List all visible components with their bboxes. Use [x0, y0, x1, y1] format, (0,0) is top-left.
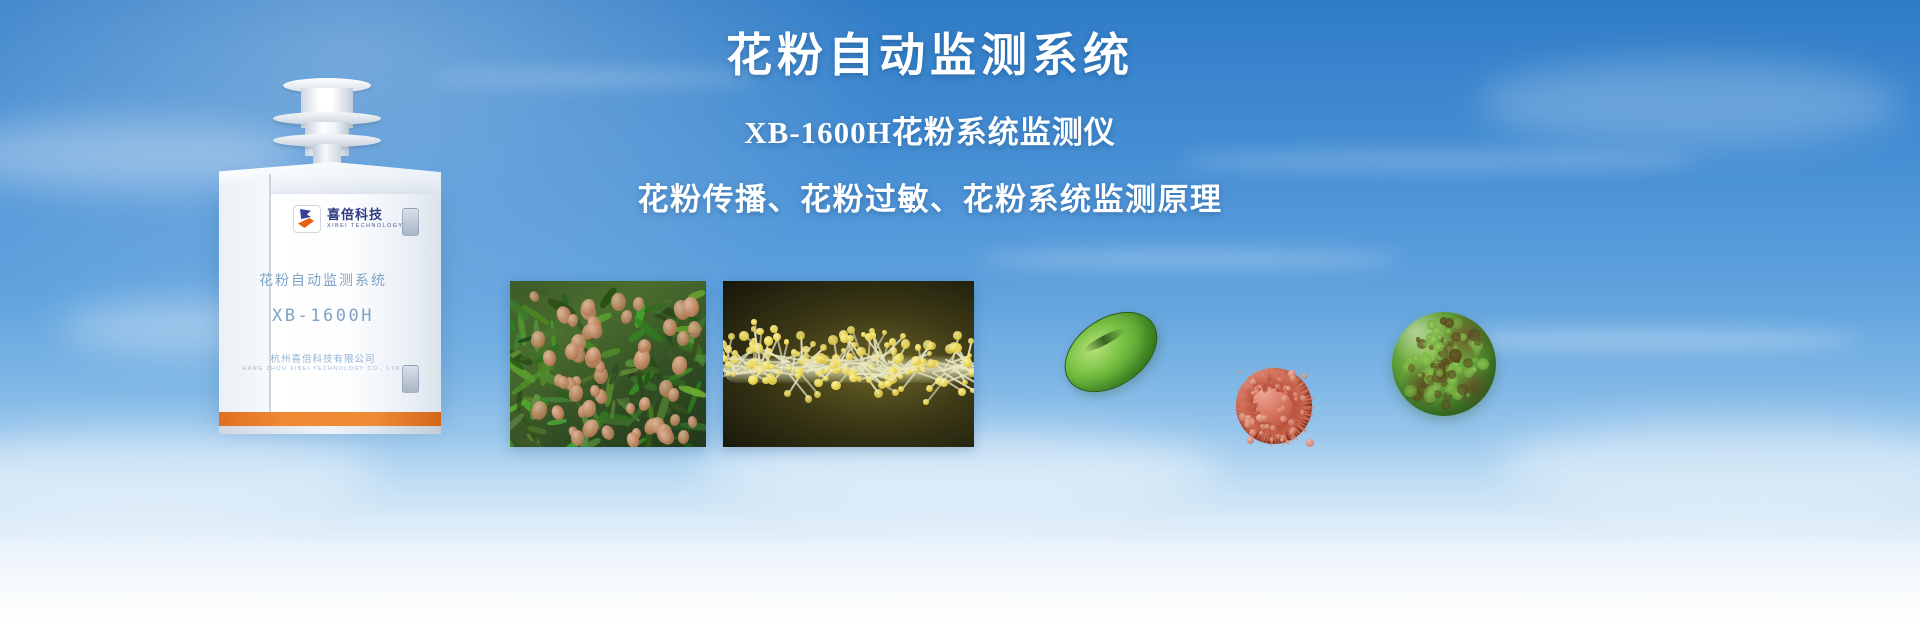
pollen-surface-bump [1418, 373, 1422, 377]
cypress-pollen-cone [599, 423, 616, 442]
pollen-surface-bump [1466, 393, 1470, 397]
catkin-anther [927, 351, 932, 356]
pollen-surface-bump [1424, 387, 1434, 397]
banner-title: 花粉自动监测系统 [600, 30, 1260, 81]
photo-catkin-flower-closeup [723, 281, 974, 447]
pollen-surface-bump [1289, 430, 1294, 435]
catkin-anther [847, 335, 854, 342]
catkin-anther [831, 381, 841, 391]
catkin-anther [882, 330, 887, 335]
catkin-anther [901, 339, 910, 348]
pollen-surface-bump [1441, 400, 1450, 409]
catkin-anther [970, 388, 974, 394]
catkin-anther [816, 353, 826, 363]
photo-cypress-pollen-cones [510, 281, 706, 447]
cloud-6 [0, 430, 380, 516]
pollen-surface-bump [1269, 437, 1274, 442]
pollen-surface-bump [1293, 392, 1298, 397]
device-brand-name-cn: 喜倍科技 [327, 208, 403, 221]
pollen-monitoring-banner: 喜倍科技 XIBEI TECHNOLOGY 花粉自动监测系统 XB-1600H … [0, 0, 1920, 619]
pollen-surface-bump [1412, 354, 1420, 362]
catkin-anther [751, 326, 756, 331]
pollen-surface-bump [1408, 364, 1415, 371]
pollen-surface-bump [1249, 429, 1256, 436]
pollen-surface-bump [1261, 415, 1268, 422]
catkin-anther [820, 344, 827, 351]
catkin-anther [828, 335, 838, 345]
catkin-anther [796, 331, 805, 340]
catkin-anther [949, 342, 959, 352]
pollen-surface-bump [1239, 413, 1246, 420]
catkin-anther [756, 328, 763, 335]
pollen-surface-bump [1448, 370, 1456, 378]
cypress-needle [510, 318, 517, 334]
pollen-surface-bump [1449, 349, 1462, 362]
pollen-surface-bump [1247, 415, 1252, 420]
pollen-surface-bump [1426, 375, 1433, 382]
catkin-anther [898, 386, 904, 392]
pollen-surface-bump [1247, 436, 1255, 444]
pollen-surface-bump [1427, 320, 1437, 330]
catkin-anther [784, 390, 791, 397]
green-textured-pollen-grain [1392, 312, 1496, 416]
pollen-surface-bump [1446, 328, 1452, 334]
catkin-anther [795, 373, 801, 379]
cypress-pollen-cone [682, 296, 700, 317]
device-cabinet-side-panel [219, 183, 271, 422]
cloud-3 [1480, 60, 1900, 146]
cypress-pollen-cone [676, 331, 689, 346]
catkin-anther [968, 368, 974, 377]
catkin-anther [927, 342, 935, 350]
catkin-anther [856, 347, 865, 356]
headline-block: 花粉自动监测系统 XB-1600H花粉系统监测仪 花粉传播、花粉过敏、花粉系统监… [600, 30, 1260, 219]
catkin-anther [962, 380, 968, 386]
device-company-name-cn: 杭州喜倍科技有限公司 [205, 351, 441, 365]
catkin-anther [900, 333, 906, 339]
pollen-surface-bump [1477, 358, 1489, 370]
horizon-haze [0, 429, 1920, 619]
green-oval-pollen-grain [1050, 295, 1173, 408]
catkin-anther [751, 319, 756, 324]
catkin-anther [968, 338, 974, 344]
pollen-surface-bump [1302, 373, 1307, 378]
catkin-anther [923, 399, 929, 405]
device-cabinet-edge [269, 174, 271, 422]
pollen-surface-bump [1416, 337, 1420, 341]
cypress-needle [510, 281, 513, 282]
catkin-anther [728, 333, 735, 340]
pollen-surface-bump [1426, 334, 1432, 340]
pollen-surface-bump [1238, 370, 1242, 374]
catkin-anther [746, 360, 754, 368]
pollen-surface-bump [1471, 366, 1476, 371]
catkin-anther [739, 331, 749, 341]
pollen-surface-bump [1277, 377, 1282, 382]
catkin-anther [770, 325, 778, 333]
pollen-surface-bump [1306, 439, 1314, 447]
pollen-surface-bump [1300, 410, 1304, 414]
pollen-surface-bump [1291, 436, 1295, 440]
pollen-surface-bump [1264, 424, 1270, 430]
banner-subtitle: XB-1600H花粉系统监测仪 [600, 107, 1260, 152]
catkin-anther [784, 339, 790, 345]
device-model-number: XB-1600H [205, 306, 441, 326]
banner-tagline: 花粉传播、花粉过敏、花粉系统监测原理 [600, 174, 1260, 219]
catkin-anther [769, 364, 774, 369]
pollen-surface-bump [1457, 384, 1468, 395]
catkin-anther [851, 342, 856, 347]
catkin-anther [915, 344, 921, 350]
catkin-anther [764, 336, 774, 346]
pollen-surface-bump [1281, 395, 1288, 402]
catkin-anther [762, 377, 770, 385]
pollen-surface-bump [1281, 406, 1286, 411]
cypress-needle [600, 346, 621, 359]
catkin-anther [814, 391, 821, 398]
pollen-surface-bump [1276, 384, 1281, 389]
device-latch-upper [402, 208, 419, 236]
catkin-anther [874, 389, 883, 398]
catkin-anther [927, 359, 936, 368]
pollen-surface-bump [1290, 375, 1296, 381]
pollen-surface-bump [1434, 390, 1442, 398]
catkin-anther [805, 395, 813, 403]
device-company-name-en: HANG ZHOU XIBEI TECHNOLOGY CO., LTD. [205, 366, 441, 372]
pollen-surface-bump [1461, 395, 1466, 400]
pollen-surface-bump [1294, 397, 1298, 401]
pollen-surface-bump [1436, 369, 1443, 376]
cloud-wisp-2 [980, 250, 1400, 268]
red-spiky-pollen-grain [1222, 354, 1326, 458]
pollen-surface-bump [1404, 385, 1416, 397]
pollen-surface-bump [1423, 352, 1427, 356]
device-product-name: 花粉自动监测系统 [205, 270, 441, 290]
catkin-anther [884, 380, 892, 388]
cypress-pollen-cone [589, 385, 600, 398]
pollen-surface-bump [1286, 440, 1290, 444]
device-brand-logo: 喜倍科技 XIBEI TECHNOLOGY [293, 205, 403, 233]
catkin-anther [865, 333, 873, 341]
device-accent-bar [219, 412, 441, 426]
pollen-monitor-device: 喜倍科技 XIBEI TECHNOLOGY 花粉自动监测系统 XB-1600H … [205, 78, 455, 428]
pollen-surface-bump [1451, 332, 1461, 342]
device-base [219, 426, 441, 434]
catkin-anther [953, 331, 962, 340]
pollen-surface-bump [1280, 438, 1284, 442]
pollen-surface-bump [1443, 338, 1447, 342]
catkin-anther [823, 376, 828, 381]
catkin-anther [926, 385, 933, 392]
xibei-logo-icon [293, 205, 321, 233]
catkin-anther [884, 342, 891, 349]
catkin-anther [958, 388, 966, 396]
catkin-anther [810, 341, 816, 347]
catkin-anther [814, 379, 823, 388]
catkin-anther [748, 375, 758, 385]
pollen-surface-bump [1250, 379, 1256, 385]
device-brand-name-en: XIBEI TECHNOLOGY [327, 224, 403, 230]
pollen-surface-bump [1280, 416, 1286, 422]
cloud-5 [1500, 420, 1920, 510]
pollen-surface-bump [1251, 391, 1255, 395]
